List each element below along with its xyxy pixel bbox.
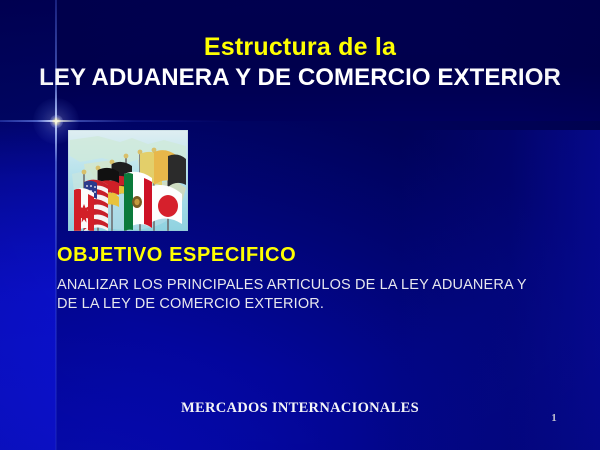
slide-title-line-1: Estructura de la [0,33,600,61]
objective-body-text: ANALIZAR LOS PRINCIPALES ARTICULOS DE LA… [57,276,587,314]
flags-world-map-image [68,130,188,231]
background-left-strip [0,105,56,450]
flags-illustration-icon [68,130,188,231]
objective-heading: OBJETIVO ESPECIFICO [57,243,296,267]
footer-label: MERCADOS INTERNACIONALES [0,400,600,417]
presentation-slide: Estructura de la LEY ADUANERA Y DE COMER… [0,0,600,450]
sparkle-star-icon [50,115,63,128]
objective-body-line-2: DE LA LEY DE COMERCIO EXTERIOR. [57,295,587,314]
slide-number: 1 [540,412,568,424]
objective-body-line-1: ANALIZAR LOS PRINCIPALES ARTICULOS DE LA… [57,276,587,295]
slide-title-line-2: LEY ADUANERA Y DE COMERCIO EXTERIOR [0,64,600,92]
